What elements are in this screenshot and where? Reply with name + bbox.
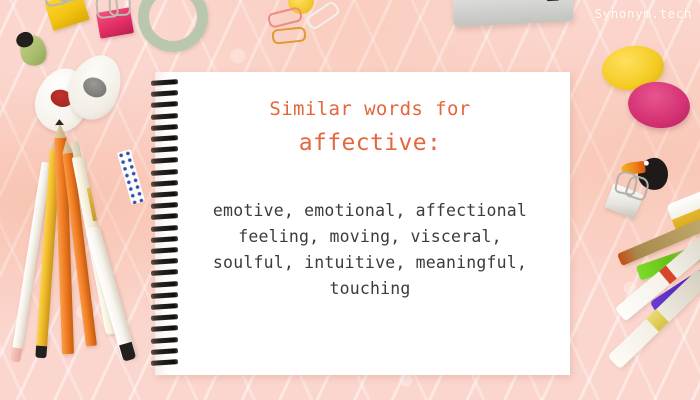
synonym-line: feeling, moving, visceral, [170,224,570,250]
spiral-coil [151,359,178,366]
card-headword: affective: [170,130,570,156]
synonym-card: Similar words for affective: emotive, em… [170,72,570,302]
spiral-coil [151,303,178,310]
synonym-list: emotive, emotional, affectionalfeeling, … [170,198,570,302]
screenshot-scene: Synonym.tech Similar words for affective… [0,0,700,400]
spiral-coil [151,314,178,321]
spiral-coil [151,348,178,355]
spiral-coil [151,337,178,344]
synonym-line: emotive, emotional, affectional [170,198,570,224]
synonym-line: soulful, intuitive, meaningful, [170,250,570,276]
card-title: Similar words for [170,98,570,120]
synonym-line: touching [170,276,570,302]
spiral-coil [151,326,178,333]
site-logo[interactable]: Synonym.tech [594,6,692,21]
